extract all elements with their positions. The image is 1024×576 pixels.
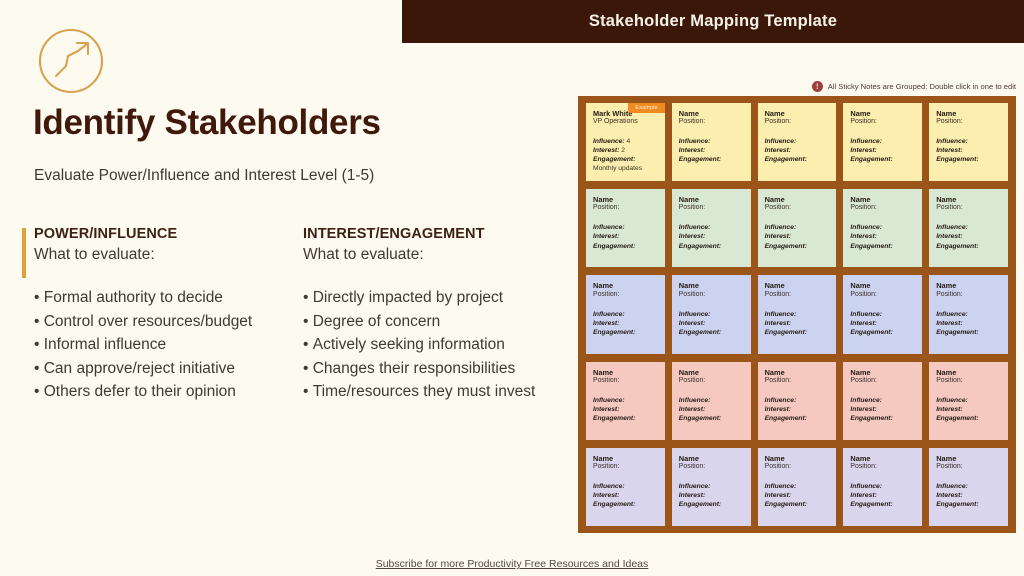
field-label: Engagement:: [936, 329, 978, 336]
sticky-note-position: Position:: [765, 204, 830, 213]
sticky-note-field-engagement: Engagement: Monthly updates: [593, 155, 658, 173]
sticky-note-board[interactable]: ExampleMark WhiteVP OperationsInfluence:…: [578, 96, 1016, 533]
field-label: Engagement:: [936, 243, 978, 250]
field-label: Influence:: [593, 224, 625, 231]
header-title: Stakeholder Mapping Template: [589, 12, 837, 31]
field-label: Engagement:: [593, 329, 635, 336]
field-label: Influence:: [936, 224, 968, 231]
field-label: Interest:: [765, 147, 791, 154]
field-label: Influence:: [679, 311, 711, 318]
sticky-note[interactable]: NamePosition:Influence:Interest:Engageme…: [672, 189, 751, 267]
sticky-note[interactable]: NamePosition:Influence:Interest:Engageme…: [758, 275, 837, 353]
sticky-note-field-interest: Interest:: [765, 146, 830, 155]
sticky-note-fields: Influence:Interest:Engagement:: [679, 137, 744, 164]
field-label: Interest:: [593, 492, 619, 499]
field-label: Influence:: [765, 224, 797, 231]
sticky-note-field-influence: Influence:: [850, 396, 915, 405]
field-label: Influence:: [936, 397, 968, 404]
sticky-note-name: Name: [765, 454, 830, 463]
field-label: Interest:: [679, 147, 705, 154]
sticky-note[interactable]: NamePosition:Influence:Interest:Engageme…: [586, 448, 665, 526]
field-label: Engagement:: [936, 501, 978, 508]
field-label: Influence:: [593, 138, 625, 145]
sticky-note-name: Name: [679, 195, 744, 204]
field-label: Influence:: [679, 397, 711, 404]
sticky-note-name: Name: [936, 454, 1001, 463]
sticky-note-fields: Influence:Interest:Engagement:: [936, 137, 1001, 164]
sticky-note[interactable]: NamePosition:Influence:Interest:Engageme…: [758, 362, 837, 440]
field-label: Influence:: [765, 397, 797, 404]
sticky-note-position: Position:: [936, 204, 1001, 213]
sticky-note-field-interest: Interest:: [765, 232, 830, 241]
sticky-note-fields: Influence:Interest:Engagement:: [850, 223, 915, 250]
eval-heading: INTEREST/ENGAGEMENT: [303, 226, 565, 242]
field-label: Influence:: [593, 483, 625, 490]
sticky-note-name: Name: [765, 281, 830, 290]
sticky-note-name: Name: [765, 109, 830, 118]
sticky-note[interactable]: NamePosition:Influence:Interest:Engageme…: [843, 362, 922, 440]
field-label: Interest:: [679, 320, 705, 327]
field-label: Interest:: [593, 406, 619, 413]
sticky-note[interactable]: NamePosition:Influence:Interest:Engageme…: [929, 448, 1008, 526]
sticky-note-position: Position:: [593, 291, 658, 300]
field-label: Engagement:: [593, 415, 635, 422]
eval-column-power-influence: POWER/INFLUENCE What to evaluate: Formal…: [22, 226, 294, 404]
sticky-note-position: Position:: [936, 377, 1001, 386]
list-item: Can approve/reject initiative: [34, 357, 294, 381]
list-item: Degree of concern: [303, 310, 565, 334]
sticky-note-field-influence: Influence:: [850, 310, 915, 319]
field-label: Influence:: [679, 483, 711, 490]
sticky-note-name: Name: [593, 195, 658, 204]
sticky-note[interactable]: NamePosition:Influence:Interest:Engageme…: [672, 275, 751, 353]
sticky-note-field-influence: Influence:: [593, 223, 658, 232]
sticky-note-fields: Influence:Interest:Engagement:: [765, 310, 830, 337]
field-label: Engagement:: [936, 415, 978, 422]
sticky-note-field-influence: Influence:: [679, 137, 744, 146]
sticky-note-field-influence: Influence:: [936, 310, 1001, 319]
field-label: Interest:: [593, 320, 619, 327]
field-label: Engagement:: [593, 243, 635, 250]
sticky-note-position: Position:: [936, 291, 1001, 300]
sticky-note-field-engagement: Engagement:: [679, 414, 744, 423]
eval-subheading: What to evaluate:: [303, 246, 565, 264]
sticky-note-field-interest: Interest:: [936, 146, 1001, 155]
eval-subheading: What to evaluate:: [34, 246, 294, 264]
sticky-note-field-interest: Interest:: [936, 319, 1001, 328]
sticky-note-field-influence: Influence:: [850, 482, 915, 491]
sticky-note-field-interest: Interest:: [679, 319, 744, 328]
field-label: Interest:: [593, 147, 619, 154]
sticky-note-field-engagement: Engagement:: [850, 328, 915, 337]
sticky-note-field-engagement: Engagement:: [679, 155, 744, 164]
sticky-note-field-influence: Influence:: [765, 137, 830, 146]
field-label: Influence:: [765, 483, 797, 490]
field-value: Monthly updates: [593, 165, 642, 172]
sticky-note[interactable]: NamePosition:Influence:Interest:Engageme…: [672, 103, 751, 181]
sticky-note-fields: Influence:Interest:Engagement:: [850, 396, 915, 423]
sticky-note-position: Position:: [593, 204, 658, 213]
sticky-note-fields: Influence:Interest:Engagement:: [593, 310, 658, 337]
sticky-note[interactable]: NamePosition:Influence:Interest:Engageme…: [672, 448, 751, 526]
sticky-note-fields: Influence: 4Interest: 2Engagement: Month…: [593, 137, 658, 173]
sticky-note[interactable]: NamePosition:Influence:Interest:Engageme…: [843, 103, 922, 181]
field-label: Engagement:: [850, 415, 892, 422]
sticky-note-field-engagement: Engagement:: [936, 414, 1001, 423]
sticky-note[interactable]: NamePosition:Influence:Interest:Engageme…: [929, 189, 1008, 267]
sticky-note-field-engagement: Engagement:: [593, 242, 658, 251]
sticky-note-position: Position:: [765, 291, 830, 300]
sticky-note-field-interest: Interest:: [679, 491, 744, 500]
sticky-note-field-engagement: Engagement:: [765, 328, 830, 337]
sticky-note-field-influence: Influence:: [593, 482, 658, 491]
left-content-pane: Identify Stakeholders Evaluate Power/Inf…: [0, 0, 570, 546]
sticky-note[interactable]: NamePosition:Influence:Interest:Engageme…: [843, 189, 922, 267]
sticky-note-position: Position:: [593, 377, 658, 386]
field-value: 2: [619, 147, 625, 154]
sticky-note-position: Position:: [679, 291, 744, 300]
sticky-note-position: Position:: [679, 377, 744, 386]
sticky-note-fields: Influence:Interest:Engagement:: [593, 223, 658, 250]
list-item: Control over resources/budget: [34, 310, 294, 334]
field-label: Influence:: [765, 138, 797, 145]
field-label: Influence:: [936, 311, 968, 318]
sticky-note-fields: Influence:Interest:Engagement:: [765, 223, 830, 250]
sticky-note-position: Position:: [679, 118, 744, 127]
sticky-note-position: Position:: [850, 463, 915, 472]
sticky-note-field-interest: Interest:: [850, 232, 915, 241]
field-label: Interest:: [936, 320, 962, 327]
sticky-note-field-engagement: Engagement:: [850, 242, 915, 251]
sticky-note-name: Name: [679, 281, 744, 290]
sticky-note-fields: Influence:Interest:Engagement:: [936, 310, 1001, 337]
sticky-note-fields: Influence:Interest:Engagement:: [936, 482, 1001, 509]
sticky-note-fields: Influence:Interest:Engagement:: [850, 137, 915, 164]
field-label: Engagement:: [850, 156, 892, 163]
field-label: Influence:: [593, 397, 625, 404]
sticky-note-field-influence: Influence:: [765, 482, 830, 491]
field-label: Engagement:: [593, 501, 635, 508]
sticky-note-field-interest: Interest:: [936, 491, 1001, 500]
sticky-note[interactable]: NamePosition:Influence:Interest:Engageme…: [843, 275, 922, 353]
sticky-note-field-influence: Influence:: [936, 223, 1001, 232]
sticky-note-fields: Influence:Interest:Engagement:: [593, 482, 658, 509]
sticky-note-fields: Influence:Interest:Engagement:: [679, 223, 744, 250]
sticky-note-fields: Influence:Interest:Engagement:: [593, 396, 658, 423]
field-label: Engagement:: [765, 329, 807, 336]
sticky-note-name: Name: [850, 109, 915, 118]
sticky-note-position: Position:: [679, 204, 744, 213]
sticky-note-name: Name: [850, 454, 915, 463]
sticky-note-field-interest: Interest:: [765, 405, 830, 414]
field-label: Engagement:: [679, 243, 721, 250]
sticky-note-position: Position:: [936, 463, 1001, 472]
sticky-note[interactable]: NamePosition:Influence:Interest:Engageme…: [758, 448, 837, 526]
field-label: Interest:: [936, 406, 962, 413]
sticky-note-name: Name: [936, 368, 1001, 377]
sticky-note[interactable]: NamePosition:Influence:Interest:Engageme…: [929, 103, 1008, 181]
sticky-note[interactable]: NamePosition:Influence:Interest:Engageme…: [586, 275, 665, 353]
field-label: Engagement:: [679, 501, 721, 508]
sticky-note[interactable]: NamePosition:Influence:Interest:Engageme…: [758, 103, 837, 181]
sticky-note-position: Position:: [850, 204, 915, 213]
sticky-note-field-interest: Interest:: [850, 491, 915, 500]
sticky-note-position: Position:: [936, 118, 1001, 127]
sticky-note-name: Name: [850, 281, 915, 290]
field-label: Influence:: [850, 397, 882, 404]
sticky-note-position: Position:: [765, 463, 830, 472]
field-label: Influence:: [679, 224, 711, 231]
field-label: Engagement:: [850, 501, 892, 508]
sticky-note-field-interest: Interest:: [679, 146, 744, 155]
sticky-note-field-interest: Interest:: [593, 319, 658, 328]
sticky-note-field-interest: Interest:: [593, 405, 658, 414]
sticky-note-fields: Influence:Interest:Engagement:: [936, 223, 1001, 250]
field-label: Interest:: [765, 320, 791, 327]
sticky-note-position: Position:: [765, 118, 830, 127]
page-title: Identify Stakeholders: [33, 103, 381, 143]
field-value: 4: [625, 138, 631, 145]
sticky-note-field-engagement: Engagement:: [765, 155, 830, 164]
sticky-note-field-engagement: Engagement:: [765, 242, 830, 251]
sticky-note[interactable]: NamePosition:Influence:Interest:Engageme…: [843, 448, 922, 526]
sticky-note-name: Name: [765, 195, 830, 204]
field-label: Engagement:: [679, 329, 721, 336]
sticky-note-field-influence: Influence:: [936, 137, 1001, 146]
field-label: Engagement:: [765, 156, 807, 163]
sticky-note[interactable]: NamePosition:Influence:Interest:Engageme…: [929, 362, 1008, 440]
field-label: Engagement:: [936, 156, 978, 163]
sticky-note-field-interest: Interest: 2: [593, 146, 658, 155]
field-label: Engagement:: [850, 329, 892, 336]
list-item: Directly impacted by project: [303, 286, 565, 310]
field-label: Engagement:: [765, 501, 807, 508]
sticky-note-fields: Influence:Interest:Engagement:: [765, 482, 830, 509]
sticky-note-field-engagement: Engagement:: [679, 242, 744, 251]
page-subtitle: Evaluate Power/Influence and Interest Le…: [34, 167, 374, 185]
sticky-note-fields: Influence:Interest:Engagement:: [850, 310, 915, 337]
sticky-note-field-interest: Interest:: [850, 146, 915, 155]
sticky-note-field-influence: Influence:: [679, 223, 744, 232]
sticky-note-position: Position:: [593, 463, 658, 472]
sticky-note-field-interest: Interest:: [850, 319, 915, 328]
sticky-note-field-engagement: Engagement:: [593, 328, 658, 337]
sticky-note-field-engagement: Engagement:: [765, 414, 830, 423]
field-label: Engagement:: [679, 415, 721, 422]
sticky-note-field-engagement: Engagement:: [593, 500, 658, 509]
sticky-note-field-interest: Interest:: [765, 491, 830, 500]
field-label: Interest:: [850, 233, 876, 240]
list-item: Time/resources they must invest: [303, 380, 565, 404]
sticky-note-field-engagement: Engagement:: [850, 500, 915, 509]
field-label: Interest:: [765, 233, 791, 240]
sticky-note-name: Name: [679, 454, 744, 463]
board-notice-text: All Sticky Notes are Grouped: Double cli…: [828, 82, 1016, 91]
sticky-note-name: Name: [850, 195, 915, 204]
field-label: Interest:: [679, 492, 705, 499]
field-label: Interest:: [936, 233, 962, 240]
sticky-note-field-engagement: Engagement:: [850, 155, 915, 164]
slide-canvas: Stakeholder Mapping Template Identify St…: [0, 0, 1024, 576]
sticky-note[interactable]: NamePosition:Influence:Interest:Engageme…: [758, 189, 837, 267]
sticky-note-field-interest: Interest:: [593, 232, 658, 241]
sticky-note-field-influence: Influence:: [679, 396, 744, 405]
field-label: Influence:: [850, 138, 882, 145]
sticky-note-field-interest: Interest:: [850, 405, 915, 414]
sticky-note-name: Name: [936, 109, 1001, 118]
sticky-note-field-influence: Influence:: [850, 137, 915, 146]
sticky-note-position: Position:: [765, 377, 830, 386]
sticky-note-field-engagement: Engagement:: [936, 155, 1001, 164]
sticky-note-field-interest: Interest:: [679, 232, 744, 241]
list-item: Formal authority to decide: [34, 286, 294, 310]
list-item: Informal influence: [34, 333, 294, 357]
sticky-note-fields: Influence:Interest:Engagement:: [679, 482, 744, 509]
list-item: Actively seeking information: [303, 333, 565, 357]
sticky-note-field-interest: Interest:: [765, 319, 830, 328]
sticky-note-position: Position:: [850, 377, 915, 386]
sticky-note-field-engagement: Engagement:: [936, 242, 1001, 251]
sticky-note-field-influence: Influence: 4: [593, 137, 658, 146]
field-label: Interest:: [679, 233, 705, 240]
list-item: Changes their responsibilities: [303, 357, 565, 381]
field-label: Interest:: [593, 233, 619, 240]
field-label: Interest:: [850, 492, 876, 499]
sticky-note-position: VP Operations: [593, 118, 658, 127]
field-label: Influence:: [765, 311, 797, 318]
sticky-note-fields: Influence:Interest:Engagement:: [936, 396, 1001, 423]
sticky-note-field-engagement: Engagement:: [936, 500, 1001, 509]
sticky-note[interactable]: NamePosition:Influence:Interest:Engageme…: [586, 189, 665, 267]
sticky-note-fields: Influence:Interest:Engagement:: [679, 310, 744, 337]
sticky-note-name: Name: [679, 368, 744, 377]
field-label: Influence:: [593, 311, 625, 318]
field-label: Engagement:: [679, 156, 721, 163]
sticky-note-field-engagement: Engagement:: [593, 414, 658, 423]
eval-heading: POWER/INFLUENCE: [34, 226, 294, 242]
field-label: Engagement:: [593, 156, 635, 163]
field-label: Engagement:: [765, 243, 807, 250]
sticky-note-position: Position:: [679, 463, 744, 472]
field-label: Interest:: [850, 147, 876, 154]
sticky-note-field-influence: Influence:: [679, 310, 744, 319]
sticky-note-field-engagement: Engagement:: [850, 414, 915, 423]
sticky-note-field-influence: Influence:: [765, 396, 830, 405]
sticky-note-fields: Influence:Interest:Engagement:: [679, 396, 744, 423]
eval-column-interest-engagement: INTEREST/ENGAGEMENT What to evaluate: Di…: [303, 226, 565, 404]
field-label: Interest:: [850, 320, 876, 327]
sticky-note-field-engagement: Engagement:: [679, 500, 744, 509]
eval-bullet-list: Directly impacted by project Degree of c…: [303, 286, 565, 404]
sticky-note-field-engagement: Engagement:: [936, 328, 1001, 337]
sticky-note-name: Name: [679, 109, 744, 118]
sticky-note-name: Name: [593, 454, 658, 463]
sticky-note-field-influence: Influence:: [765, 310, 830, 319]
sticky-note-name: Name: [936, 195, 1001, 204]
sticky-note-name: Name: [765, 368, 830, 377]
field-label: Interest:: [765, 406, 791, 413]
sticky-note-field-interest: Interest:: [593, 491, 658, 500]
sticky-note-field-influence: Influence:: [850, 223, 915, 232]
sticky-note[interactable]: NamePosition:Influence:Interest:Engageme…: [586, 362, 665, 440]
list-item: Others defer to their opinion: [34, 380, 294, 404]
info-alert-icon: !: [812, 81, 823, 92]
sticky-note-position: Position:: [850, 291, 915, 300]
sticky-note-name: Name: [593, 368, 658, 377]
sticky-note[interactable]: ExampleMark WhiteVP OperationsInfluence:…: [586, 103, 665, 181]
sticky-note-fields: Influence:Interest:Engagement:: [850, 482, 915, 509]
sticky-note-name: Name: [936, 281, 1001, 290]
field-label: Interest:: [936, 492, 962, 499]
sticky-note-field-influence: Influence:: [936, 482, 1001, 491]
field-label: Interest:: [679, 406, 705, 413]
field-label: Influence:: [850, 311, 882, 318]
growth-arrow-circle-icon: [36, 26, 106, 96]
sticky-note-field-influence: Influence:: [593, 396, 658, 405]
field-label: Engagement:: [765, 415, 807, 422]
sticky-note-field-influence: Influence:: [593, 310, 658, 319]
field-label: Interest:: [936, 147, 962, 154]
board-notice: ! All Sticky Notes are Grouped: Double c…: [812, 81, 1016, 92]
sticky-note[interactable]: NamePosition:Influence:Interest:Engageme…: [672, 362, 751, 440]
accent-bar: [22, 228, 26, 278]
subscribe-footer-link[interactable]: Subscribe for more Productivity Free Res…: [0, 558, 1024, 570]
field-label: Interest:: [765, 492, 791, 499]
field-label: Influence:: [936, 483, 968, 490]
eval-bullet-list: Formal authority to decide Control over …: [34, 286, 294, 404]
field-label: Influence:: [850, 483, 882, 490]
sticky-note-field-influence: Influence:: [765, 223, 830, 232]
sticky-note-name: Name: [850, 368, 915, 377]
field-label: Influence:: [936, 138, 968, 145]
sticky-note-field-engagement: Engagement:: [765, 500, 830, 509]
field-label: Influence:: [850, 224, 882, 231]
sticky-note-field-interest: Interest:: [679, 405, 744, 414]
sticky-note-name: Name: [593, 281, 658, 290]
sticky-note-fields: Influence:Interest:Engagement:: [765, 396, 830, 423]
field-label: Engagement:: [850, 243, 892, 250]
sticky-note-field-influence: Influence:: [936, 396, 1001, 405]
example-tag: Example: [628, 103, 664, 113]
sticky-note[interactable]: NamePosition:Influence:Interest:Engageme…: [929, 275, 1008, 353]
sticky-note-field-influence: Influence:: [679, 482, 744, 491]
sticky-note-position: Position:: [850, 118, 915, 127]
field-label: Influence:: [679, 138, 711, 145]
sticky-note-field-interest: Interest:: [936, 405, 1001, 414]
sticky-note-field-engagement: Engagement:: [679, 328, 744, 337]
sticky-note-field-interest: Interest:: [936, 232, 1001, 241]
sticky-note-fields: Influence:Interest:Engagement:: [765, 137, 830, 164]
field-label: Interest:: [850, 406, 876, 413]
